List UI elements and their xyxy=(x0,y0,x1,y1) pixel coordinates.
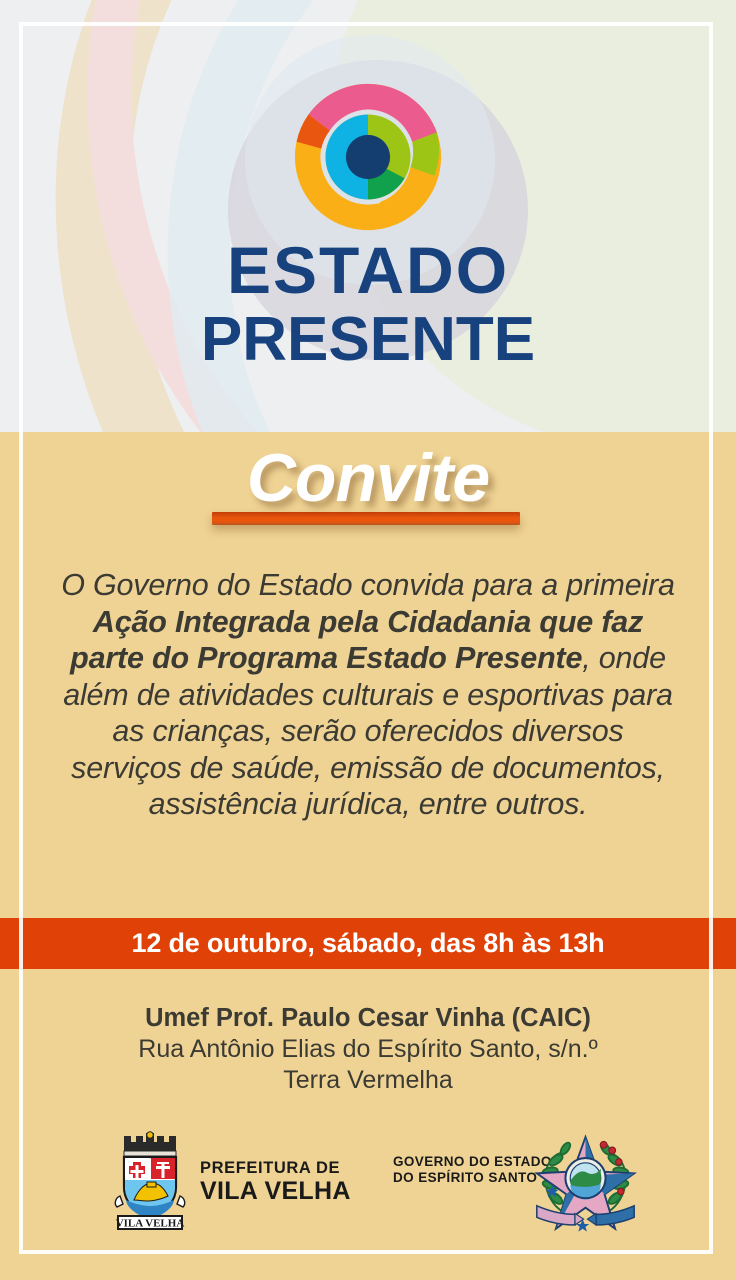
espirito-santo-coat-of-arms-icon xyxy=(533,1126,638,1236)
brand-word-estado: ESTADO xyxy=(0,237,736,303)
body-segment-1: O Governo do Estado convida para a prime… xyxy=(61,568,675,602)
estado-presente-swirl-icon xyxy=(283,72,453,242)
page-title: Convite xyxy=(0,444,736,512)
venue-neighborhood: Terra Vermelha xyxy=(58,1065,678,1096)
invitation-poster: ESTADO PRESENTE Convite O Governo do Est… xyxy=(0,0,736,1280)
venue-block: Umef Prof. Paulo Cesar Vinha (CAIC) Rua … xyxy=(58,1003,678,1096)
governo-label-line1: GOVERNO DO ESTADO xyxy=(393,1154,552,1170)
venue-address: Rua Antônio Elias do Espírito Santo, s/n… xyxy=(58,1034,678,1065)
convite-title-block: Convite xyxy=(0,444,736,539)
invitation-body-text: O Governo do Estado convida para a prime… xyxy=(58,567,678,823)
prefeitura-vila-velha-logo: VILA VELHA PREFEITURA DE VILA VELHA xyxy=(112,1130,351,1234)
footer-logos: VILA VELHA PREFEITURA DE VILA VELHA GOVE… xyxy=(0,1128,736,1240)
vila-velha-coat-of-arms-icon: VILA VELHA xyxy=(112,1130,188,1234)
governo-label-line2: DO ESPÍRITO SANTO xyxy=(393,1170,552,1186)
prefeitura-label-line1: PREFEITURA DE xyxy=(200,1160,351,1177)
brand-word-presente: PRESENTE xyxy=(0,309,736,371)
governo-estado-label: GOVERNO DO ESTADO DO ESPÍRITO SANTO xyxy=(393,1154,552,1186)
prefeitura-label-line2: VILA VELHA xyxy=(200,1179,351,1204)
crest-banner-label: VILA VELHA xyxy=(116,1218,185,1230)
body-segment-2-bold: Ação Integrada pela Cidadania que faz pa… xyxy=(70,605,643,676)
venue-name: Umef Prof. Paulo Cesar Vinha (CAIC) xyxy=(58,1003,678,1034)
date-banner: 12 de outubro, sábado, das 8h às 13h xyxy=(0,918,736,969)
date-banner-text: 12 de outubro, sábado, das 8h às 13h xyxy=(132,928,605,959)
